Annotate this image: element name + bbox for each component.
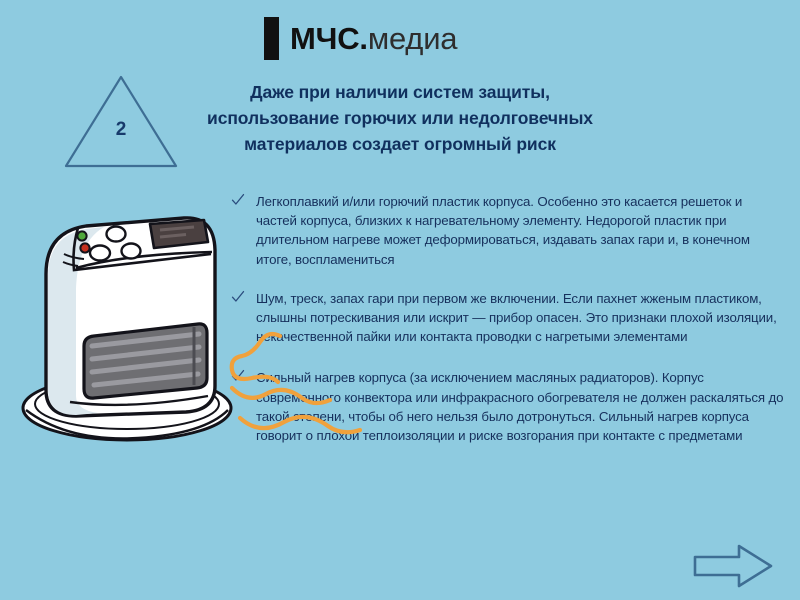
list-item-text: Шум, треск, запах гари при первом же вкл…	[256, 291, 777, 344]
fan-heater-illustration	[8, 196, 242, 448]
next-arrow-button[interactable]	[692, 543, 774, 589]
checkmark-icon	[231, 193, 245, 207]
page-title: Даже при наличии систем защиты, использо…	[150, 79, 650, 157]
arrow-right-icon[interactable]	[692, 543, 774, 589]
brand-dot: .	[359, 21, 367, 56]
bullet-list: Легкоплавкий и/или горючий пластик корпу…	[228, 192, 784, 445]
list-item: Шум, треск, запах гари при первом же вкл…	[228, 289, 784, 347]
page-title-line-2: использование горючих или недолговечных	[150, 105, 650, 131]
list-item: Сильный нагрев корпуса (за исключением м…	[228, 368, 784, 445]
slide-canvas: МЧС.медиа 2 Даже при наличии систем защи…	[0, 0, 800, 600]
list-item: Легкоплавкий и/или горючий пластик корпу…	[228, 192, 784, 269]
list-item-text: Легкоплавкий и/или горючий пластик корпу…	[256, 194, 750, 267]
brand-logo-text: МЧС.медиа	[290, 23, 457, 54]
checkmark-icon	[231, 369, 245, 383]
page-title-line-1: Даже при наличии систем защиты,	[150, 79, 650, 105]
brand-name-bold: МЧС	[290, 21, 359, 56]
brand-name-light: медиа	[368, 21, 458, 56]
fan-heater-drawing	[8, 196, 242, 448]
list-item-text: Сильный нагрев корпуса (за исключением м…	[256, 370, 783, 443]
brand-logo: МЧС.медиа	[264, 14, 457, 62]
checkmark-icon	[231, 290, 245, 304]
vertical-bar-icon	[264, 17, 279, 60]
page-title-line-3: материалов создает огромный риск	[150, 131, 650, 157]
